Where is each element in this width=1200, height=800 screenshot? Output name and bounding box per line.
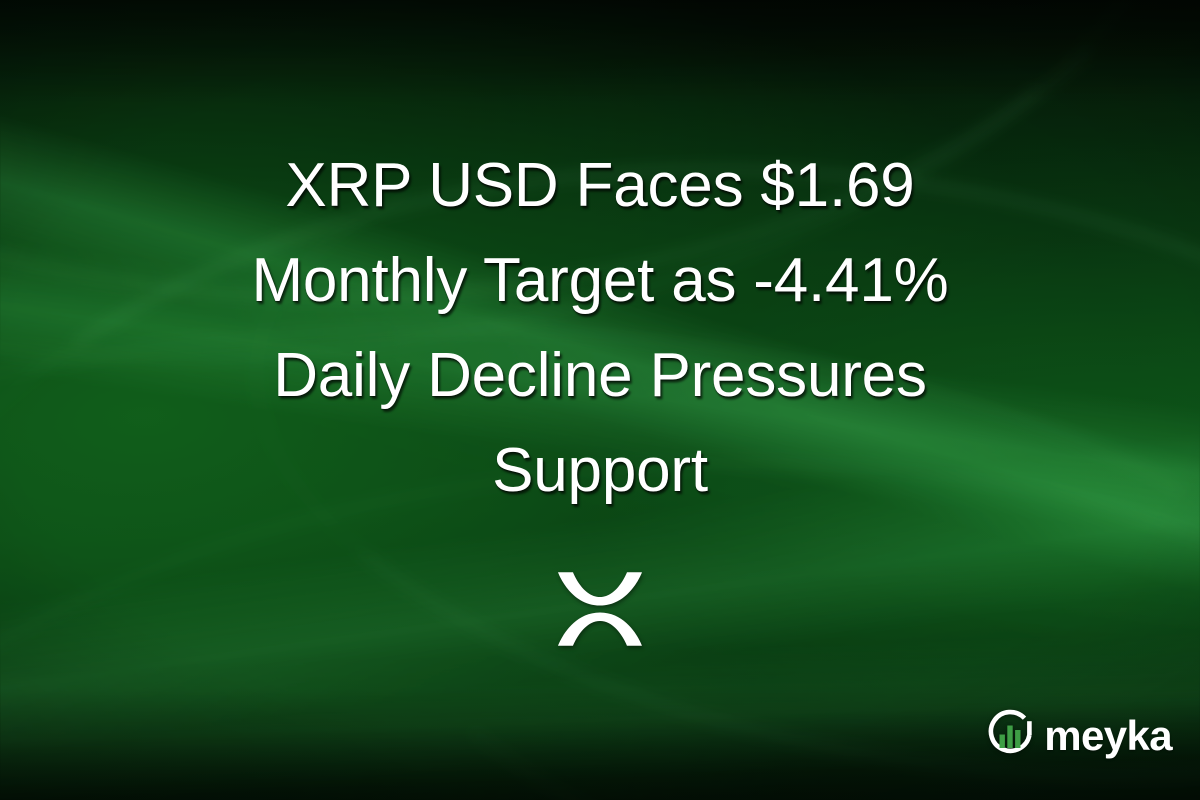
brand-name: meyka (1044, 715, 1172, 757)
meyka-circle-bars-icon (983, 708, 1037, 762)
headline-line-3: Daily Decline Pressures (95, 328, 1105, 423)
news-card: XRP USD Faces $1.69 Monthly Target as -4… (0, 0, 1200, 800)
card-content: XRP USD Faces $1.69 Monthly Target as -4… (0, 0, 1200, 800)
xrp-logo-icon (555, 571, 645, 647)
headline-line-4: Support (95, 423, 1105, 518)
brand-lockup[interactable]: meyka (983, 708, 1172, 762)
headline-line-1: XRP USD Faces $1.69 (95, 138, 1105, 233)
headline-line-2: Monthly Target as -4.41% (95, 233, 1105, 328)
page-title: XRP USD Faces $1.69 Monthly Target as -4… (95, 138, 1105, 518)
